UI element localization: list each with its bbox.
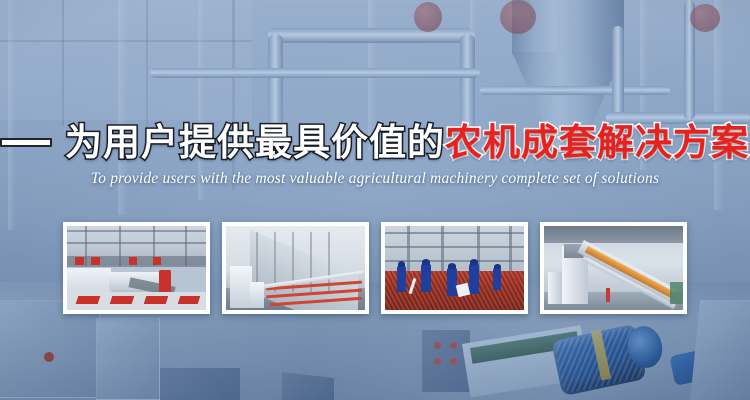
roof-column bbox=[441, 226, 444, 272]
side-cabinet bbox=[548, 272, 562, 304]
rule-left-icon bbox=[0, 138, 52, 147]
worker bbox=[469, 264, 479, 294]
product bbox=[110, 296, 135, 304]
roof-beam bbox=[385, 232, 524, 234]
machine-marker bbox=[75, 257, 84, 265]
worker bbox=[397, 266, 406, 292]
subtitle: To provide users with the most valuable … bbox=[0, 170, 750, 188]
thumbnail-image bbox=[226, 226, 365, 310]
roof-column bbox=[509, 226, 512, 272]
headline-block: 为用户提供最具价值的农机成套解决方案 To provide users with… bbox=[0, 124, 750, 188]
machine-red bbox=[606, 288, 610, 302]
machine-marker bbox=[129, 257, 137, 265]
worker bbox=[447, 268, 457, 296]
headline: 为用户提供最具价值的农机成套解决方案 bbox=[0, 124, 750, 161]
worker-hat bbox=[398, 261, 405, 267]
shed-roof bbox=[544, 226, 683, 243]
title-segment-white: 为用户提供最具价值的 bbox=[65, 122, 445, 163]
product bbox=[76, 296, 101, 304]
thumbnail-image bbox=[385, 226, 524, 310]
worker-hat bbox=[422, 259, 430, 265]
side-machine bbox=[250, 282, 264, 308]
side-machine bbox=[230, 266, 252, 308]
thumbnail-workers-chili[interactable] bbox=[381, 222, 528, 314]
machine-marker bbox=[91, 257, 100, 265]
thumbnail-strip bbox=[63, 222, 687, 314]
roof-column bbox=[407, 226, 410, 272]
machine-green bbox=[670, 282, 683, 304]
promo-banner: 为用户提供最具价值的农机成套解决方案 To provide users with… bbox=[0, 0, 750, 400]
worker bbox=[493, 268, 501, 290]
thumbnail-image bbox=[544, 226, 683, 310]
background-photo bbox=[0, 0, 750, 400]
worker-hat bbox=[448, 263, 456, 269]
thumbnail-golden-product-conveyor[interactable] bbox=[540, 222, 687, 314]
worker bbox=[421, 264, 431, 292]
thumbnail-image bbox=[67, 226, 206, 310]
operator bbox=[159, 270, 171, 294]
worker-hat bbox=[470, 259, 478, 265]
title-segment-red: 农机成套解决方案 bbox=[445, 122, 749, 163]
thumbnail-inclined-conveyor[interactable] bbox=[222, 222, 369, 314]
machine-marker bbox=[153, 257, 161, 265]
thumbnail-factory-hall[interactable] bbox=[63, 222, 210, 314]
product bbox=[178, 296, 201, 304]
page-title: 为用户提供最具价值的农机成套解决方案 bbox=[65, 124, 749, 161]
worker-hat bbox=[494, 264, 501, 269]
roof-beam bbox=[385, 246, 524, 248]
product bbox=[144, 296, 169, 304]
background-vignette bbox=[0, 0, 750, 400]
roof-beam bbox=[385, 260, 524, 262]
